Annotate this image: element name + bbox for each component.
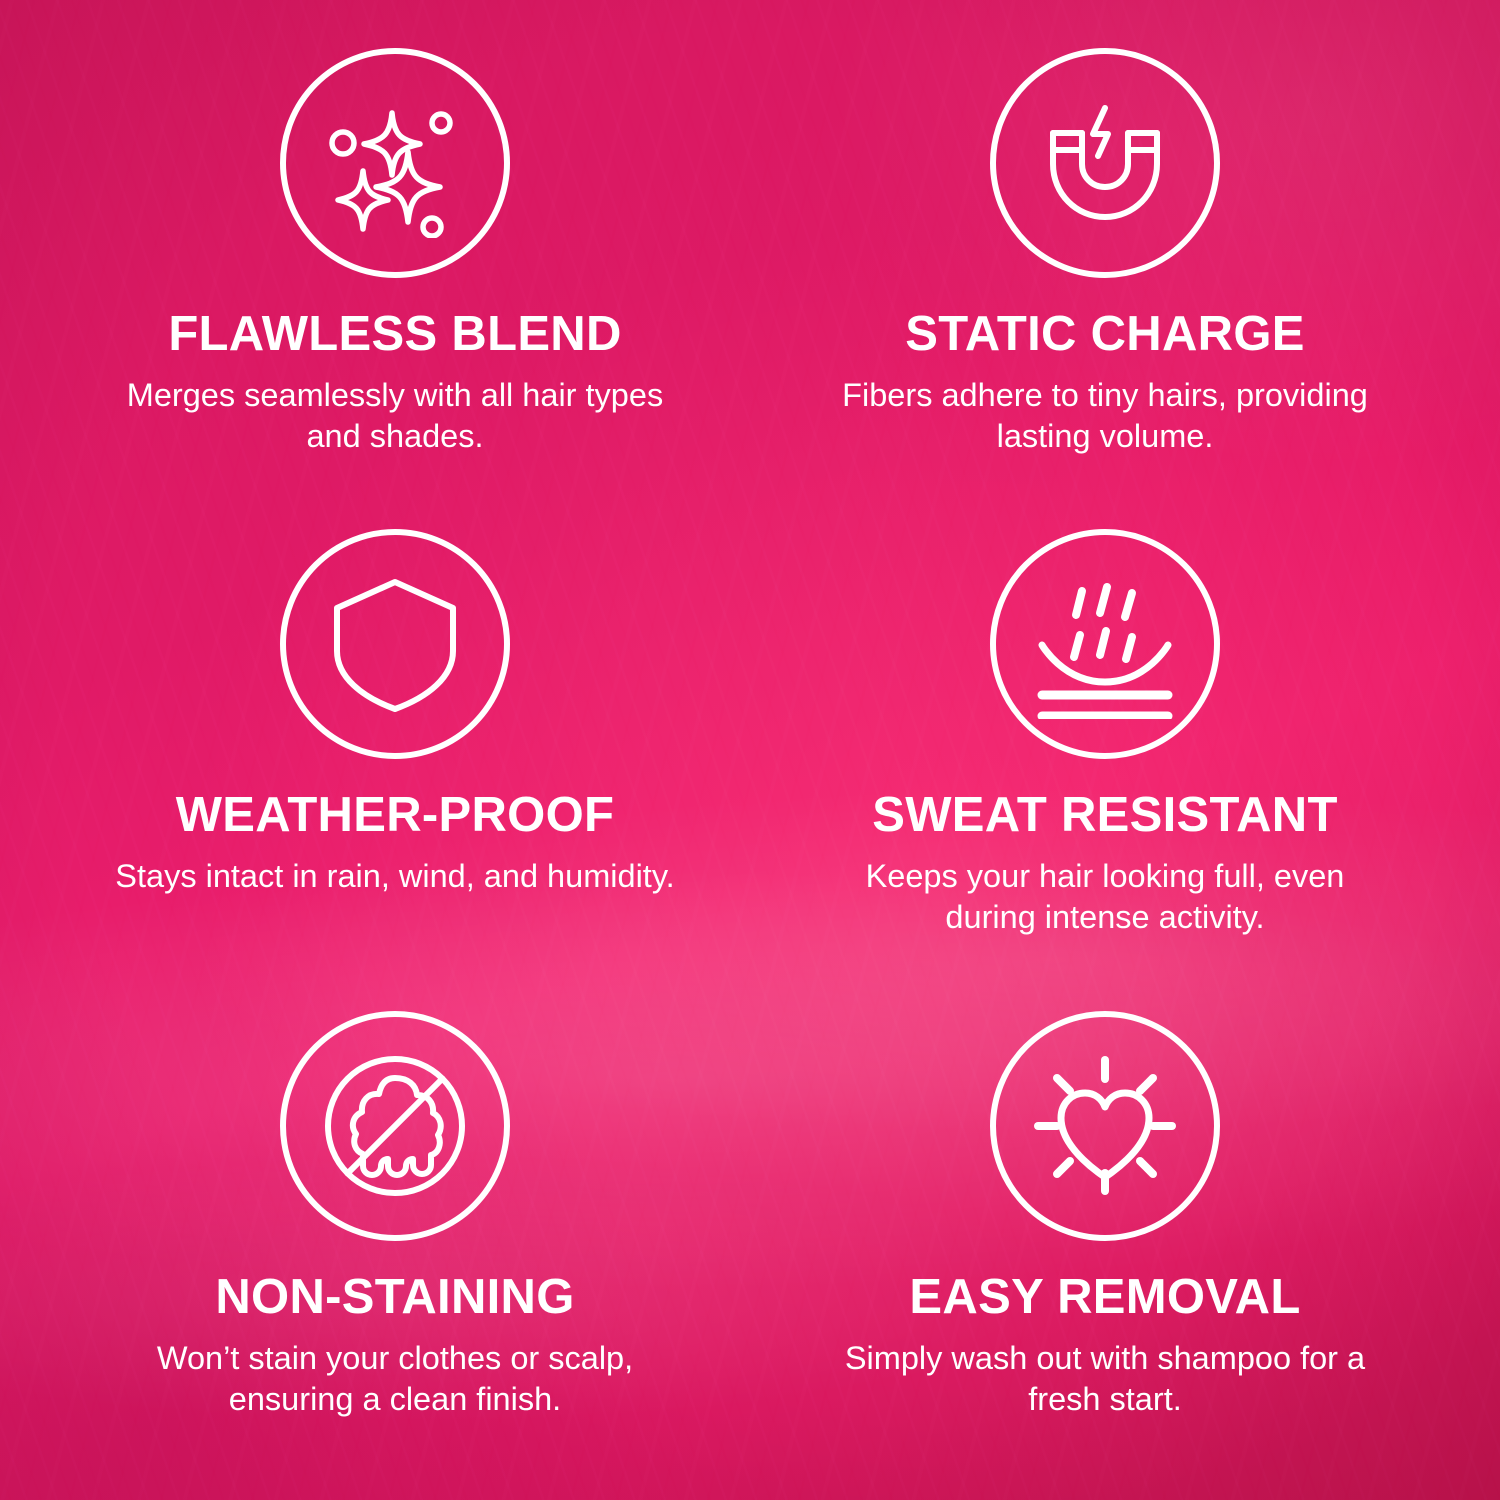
water-repellent-icon <box>990 529 1220 759</box>
feature-description: Keeps your hair looking full, even durin… <box>825 856 1385 938</box>
feature-card-static-charge: STATIC CHARGE Fibers adhere to tiny hair… <box>750 34 1460 515</box>
feature-description: Fibers adhere to tiny hairs, providing l… <box>825 375 1385 457</box>
features-grid: FLAWLESS BLEND Merges seamlessly with al… <box>0 0 1500 1500</box>
feature-description: Won’t stain your clothes or scalp, ensur… <box>115 1338 675 1420</box>
feature-card-easy-removal: EASY REMOVAL Simply wash out with shampo… <box>750 997 1460 1478</box>
feature-title: STATIC CHARGE <box>905 310 1305 360</box>
feature-title: WEATHER-PROOF <box>176 791 615 841</box>
feature-description: Stays intact in rain, wind, and humidity… <box>115 856 674 897</box>
no-stain-icon <box>280 1011 510 1241</box>
sparkles-icon <box>280 48 510 278</box>
infographic-canvas: FLAWLESS BLEND Merges seamlessly with al… <box>0 0 1500 1500</box>
feature-title: SWEAT RESISTANT <box>872 791 1337 841</box>
feature-card-sweat-resistant: SWEAT RESISTANT Keeps your hair looking … <box>750 515 1460 996</box>
feature-card-flawless-blend: FLAWLESS BLEND Merges seamlessly with al… <box>40 34 750 515</box>
magnet-static-charge-icon <box>990 48 1220 278</box>
shining-heart-icon <box>990 1011 1220 1241</box>
feature-card-non-staining: NON-STAINING Won’t stain your clothes or… <box>40 997 750 1478</box>
shield-icon <box>280 529 510 759</box>
feature-description: Merges seamlessly with all hair types an… <box>115 375 675 457</box>
feature-title: EASY REMOVAL <box>909 1273 1300 1323</box>
feature-card-weather-proof: WEATHER-PROOF Stays intact in rain, wind… <box>40 515 750 996</box>
feature-description: Simply wash out with shampoo for a fresh… <box>825 1338 1385 1420</box>
feature-title: FLAWLESS BLEND <box>168 310 621 360</box>
feature-title: NON-STAINING <box>215 1273 574 1323</box>
